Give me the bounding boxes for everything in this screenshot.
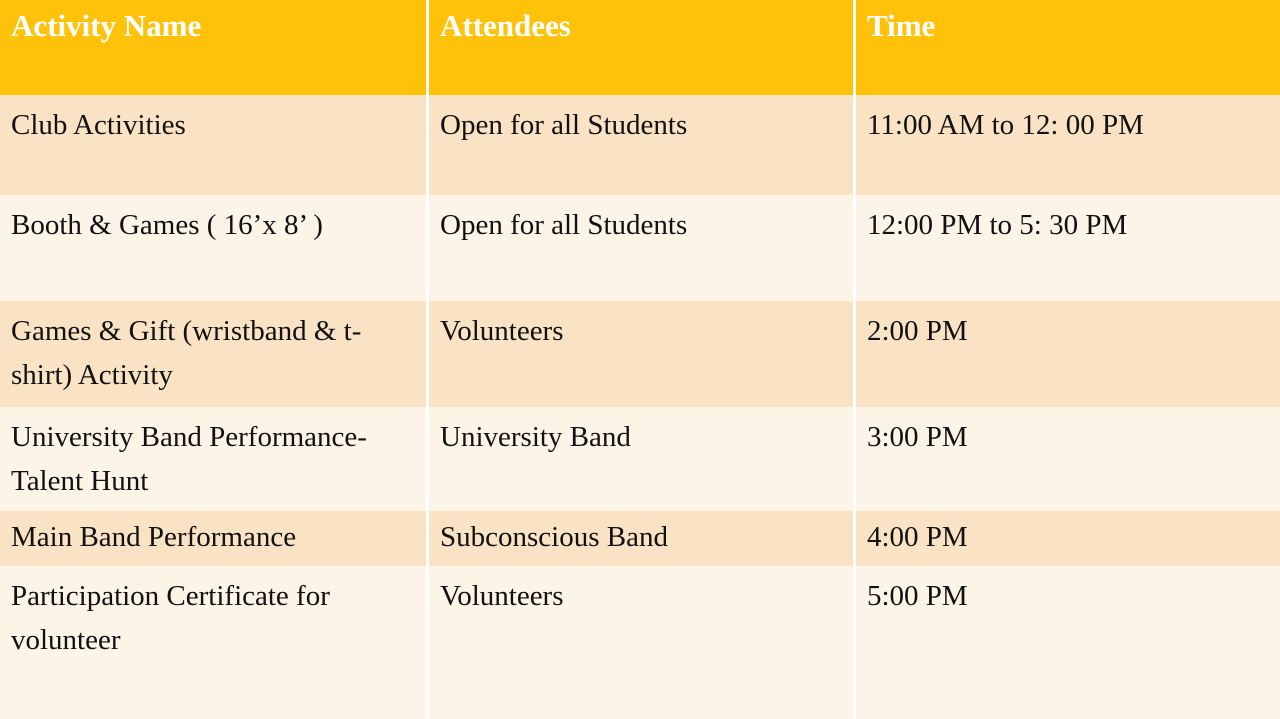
cell-text: 2:00 PM xyxy=(867,309,1272,353)
cell-text: University Band Performance- Talent Hunt xyxy=(11,415,418,503)
table-row: Club Activities Open for all Students 11… xyxy=(0,95,1280,195)
cell-text: 11:00 AM to 12: 00 PM xyxy=(867,103,1272,147)
table-row: Games & Gift (wristband & t-shirt) Activ… xyxy=(0,301,1280,407)
table-row: Main Band Performance Subconscious Band … xyxy=(0,511,1280,566)
cell-time: 3:00 PM xyxy=(856,407,1280,511)
cell-text: Subconscious Band xyxy=(440,515,845,559)
cell-time: 11:00 AM to 12: 00 PM xyxy=(856,95,1280,195)
cell-text: University Band xyxy=(440,415,845,459)
table-body: Club Activities Open for all Students 11… xyxy=(0,95,1280,719)
cell-attendees: Volunteers xyxy=(429,301,853,407)
table-header-row: Activity Name Attendees Time xyxy=(0,0,1280,95)
cell-activity-name: University Band Performance- Talent Hunt xyxy=(0,407,426,511)
event-schedule-table: Activity Name Attendees Time Club Activi… xyxy=(0,0,1280,719)
cell-attendees: Open for all Students xyxy=(429,95,853,195)
column-header-time: Time xyxy=(856,0,1280,95)
column-header-activity-name: Activity Name xyxy=(0,0,426,95)
cell-text: 12:00 PM to 5: 30 PM xyxy=(867,203,1272,247)
cell-activity-name: Games & Gift (wristband & t-shirt) Activ… xyxy=(0,301,426,407)
cell-text: Open for all Students xyxy=(440,103,845,147)
table-row: Participation Certificate for volunteer … xyxy=(0,566,1280,719)
cell-text: 5:00 PM xyxy=(867,574,1272,618)
table-row: Booth & Games ( 16’x 8’ ) Open for all S… xyxy=(0,195,1280,301)
cell-text: Games & Gift (wristband & t-shirt) Activ… xyxy=(11,309,418,397)
cell-attendees: Open for all Students xyxy=(429,195,853,301)
cell-activity-name: Club Activities xyxy=(0,95,426,195)
cell-text: Volunteers xyxy=(440,574,845,618)
cell-text: 4:00 PM xyxy=(867,515,1272,559)
cell-text: Club Activities xyxy=(11,103,418,147)
cell-text: 3:00 PM xyxy=(867,415,1272,459)
cell-activity-name: Main Band Performance xyxy=(0,511,426,566)
cell-time: 12:00 PM to 5: 30 PM xyxy=(856,195,1280,301)
cell-text: Participation Certificate for volunteer xyxy=(11,574,418,662)
cell-text: Booth & Games ( 16’x 8’ ) xyxy=(11,203,418,247)
cell-text: Volunteers xyxy=(440,309,845,353)
cell-time: 5:00 PM xyxy=(856,566,1280,719)
cell-time: 2:00 PM xyxy=(856,301,1280,407)
cell-activity-name: Booth & Games ( 16’x 8’ ) xyxy=(0,195,426,301)
cell-text: Open for all Students xyxy=(440,203,845,247)
cell-attendees: Volunteers xyxy=(429,566,853,719)
cell-time: 4:00 PM xyxy=(856,511,1280,566)
table-row: University Band Performance- Talent Hunt… xyxy=(0,407,1280,511)
cell-activity-name: Participation Certificate for volunteer xyxy=(0,566,426,719)
cell-text: Main Band Performance xyxy=(11,515,418,559)
cell-attendees: University Band xyxy=(429,407,853,511)
cell-attendees: Subconscious Band xyxy=(429,511,853,566)
column-header-attendees: Attendees xyxy=(429,0,853,95)
